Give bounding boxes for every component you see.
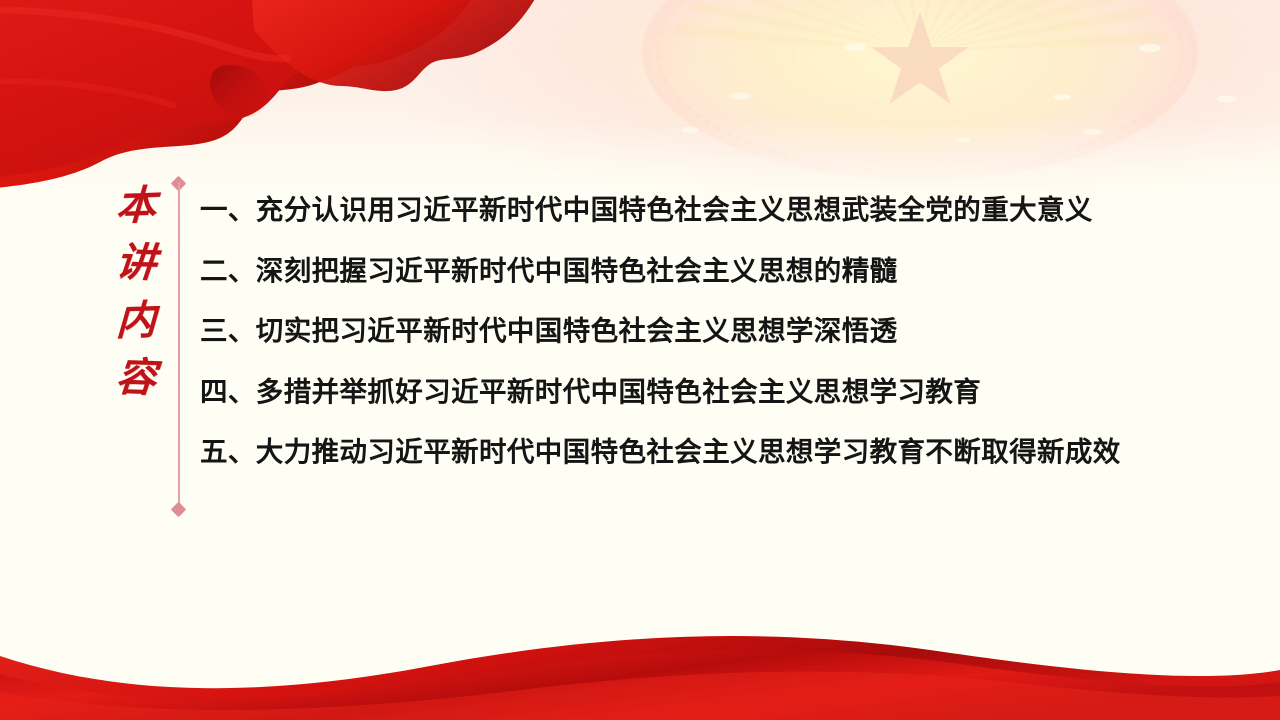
slide-canvas: 本 讲 内 容 一、充分认识用习近平新时代中国特色社会主义思想武装全党的重大意义… <box>0 0 1280 720</box>
outline-item-5[interactable]: 五、大力推动习近平新时代中国特色社会主义思想学习教育不断取得新成效 <box>200 438 1240 466</box>
outline-list: 一、充分认识用习近平新时代中国特色社会主义思想武装全党的重大意义 二、深刻把握习… <box>200 196 1240 466</box>
vertical-title-char-1: 本 <box>115 185 156 226</box>
vertical-title-char-3: 内 <box>115 300 156 341</box>
vertical-title-char-2: 讲 <box>114 243 157 284</box>
vertical-title-char-4: 容 <box>114 357 157 398</box>
outline-item-3[interactable]: 三、切实把习近平新时代中国特色社会主义思想学深悟透 <box>200 317 1240 345</box>
outline-item-2[interactable]: 二、深刻把握习近平新时代中国特色社会主义思想的精髓 <box>200 257 1240 285</box>
vertical-divider <box>178 182 180 510</box>
outline-item-4[interactable]: 四、多措并举抓好习近平新时代中国特色社会主义思想学习教育 <box>200 378 1240 406</box>
slide-content: 本 讲 内 容 一、充分认识用习近平新时代中国特色社会主义思想武装全党的重大意义… <box>0 0 1280 720</box>
outline-item-1[interactable]: 一、充分认识用习近平新时代中国特色社会主义思想武装全党的重大意义 <box>200 196 1240 224</box>
vertical-section-title: 本 讲 内 容 <box>108 186 164 398</box>
diamond-marker-bottom <box>171 502 187 518</box>
